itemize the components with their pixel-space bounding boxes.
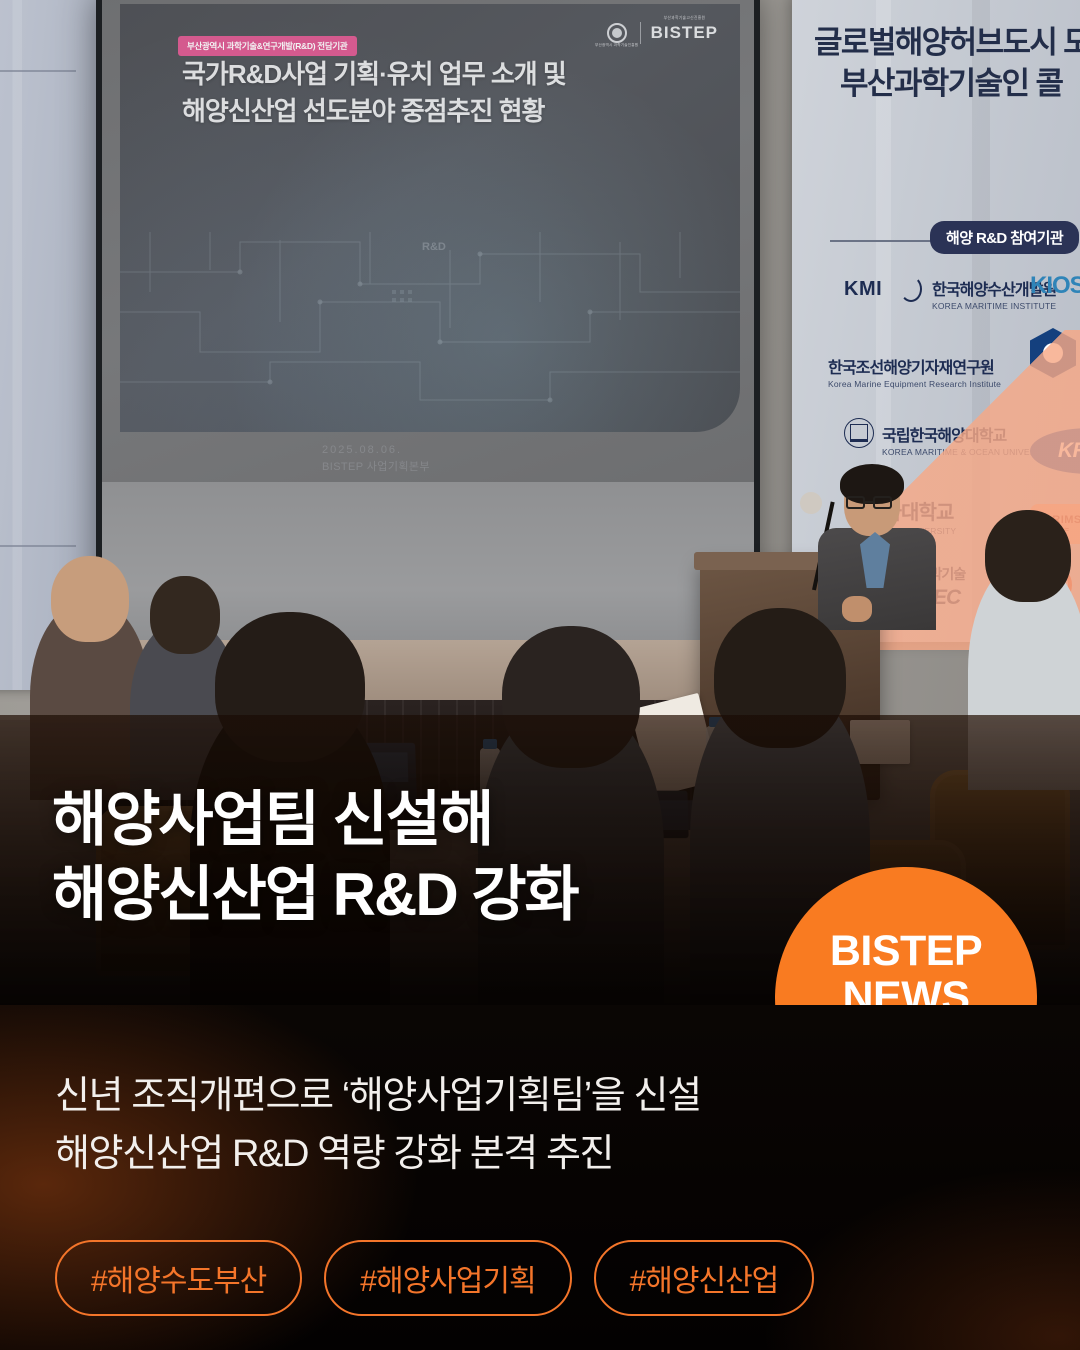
hashtag-pill-1[interactable]: #해양사업기획 [324,1240,571,1316]
right-banner-title-line1: 글로벌해양허브도시 도 [814,22,1080,63]
org-kmeri: 한국조선해양기자재연구원 Korea Marine Equipment Rese… [828,354,1001,389]
speaker-hand [842,596,872,622]
kmi-arc-icon [900,276,922,302]
circuit-rnd-label: R&D [422,241,446,253]
bistep-wordmark-logo: 부산과학기술고신진흥원 BISTEP [651,23,718,43]
participating-orgs-pill: 해양 R&D 참여기관 [930,221,1079,254]
news-card: P 진흥원 술협의회 cience and Technology 실 연 [0,0,1080,1350]
logo-divider [640,22,641,44]
kiost-logo: KIOST [1030,272,1080,300]
headline: 해양사업팀 신설해 해양신산업 R&D 강화 [52,782,792,932]
left-banner-rule-bottom [0,545,76,547]
kriso-logo: KRISO [1030,428,1080,474]
headline-line2: 해양신산업 R&D 강화 [52,857,792,932]
subtitle-line2: 해양신산업 R&D 역량 강화 본격 추진 [55,1126,955,1184]
right-banner-title-line2: 부산과학기술인 콜 [814,63,1080,104]
slide-agency-badge: 부산광역시 과학기술&연구개발(R&D) 전담기관 [178,36,357,56]
badge-line1: BISTEP [830,929,982,975]
org-kmeri-kor: 한국조선해양기자재연구원 [828,354,1001,378]
hashtag-pill-2[interactable]: #해양신산업 [594,1240,815,1316]
right-banner-title: 글로벌해양허브도시 도 부산과학기술인 콜 [814,22,1080,104]
left-banner-rule-top [0,70,76,72]
slide-title-line2: 해양신산업 선도분야 중점추진 현황 [182,93,722,130]
city-emblem-icon: 부산광역시 과학기술진흥원 [604,18,630,48]
slide-footer-org: BISTEP 사업기획본부 [322,459,430,476]
slide-logo-group: 부산광역시 과학기술진흥원 부산과학기술고신진흥원 BISTEP [604,18,718,48]
circuit-graphic: R&D [120,232,740,432]
subtitle-line1: 신년 조직개편으로 ‘해양사업기획팀’을 신설 [55,1068,955,1126]
org-kmeri-eng: Korea Marine Equipment Research Institut… [828,379,1001,389]
bistep-wordmark-tag: 부산과학기술고신진흥원 [664,16,706,21]
slide-footer: 2025.08.06. BISTEP 사업기획본부 [322,442,430,476]
subtitle: 신년 조직개편으로 ‘해양사업기획팀’을 신설 해양신산업 R&D 역량 강화 … [55,1068,955,1184]
headline-line1: 해양사업팀 신설해 [52,782,792,857]
slide-footer-date: 2025.08.06. [322,442,430,459]
speaker-glasses-icon [846,496,894,509]
hexagon-logo-icon [1030,328,1076,378]
slide-title: 국가R&D사업 기획·유치 업무 소개 및 해양신산업 선도분야 중점추진 현황 [182,56,722,130]
slide-title-line1: 국가R&D사업 기획·유치 업무 소개 및 [182,56,722,93]
city-emblem-caption: 부산광역시 과학기술진흥원 [595,43,638,48]
bistep-wordmark-text: BISTEP [651,23,718,42]
kmou-seal-icon [844,418,874,448]
presentation-slide: R&D 부산광역시 과학기술진흥원 부산과학기술고신진흥원 BISTEP 부산광… [120,4,740,432]
projection-screen: R&D 부산광역시 과학기술진흥원 부산과학기술고신진흥원 BISTEP 부산광… [102,0,754,662]
hashtag-pill-0[interactable]: #해양수도부산 [55,1240,302,1316]
hashtag-list: #해양수도부산 #해양사업기획 #해양신산업 [55,1240,814,1316]
speaker-person [818,470,936,630]
kmi-mark-icon: KMI [844,278,882,301]
